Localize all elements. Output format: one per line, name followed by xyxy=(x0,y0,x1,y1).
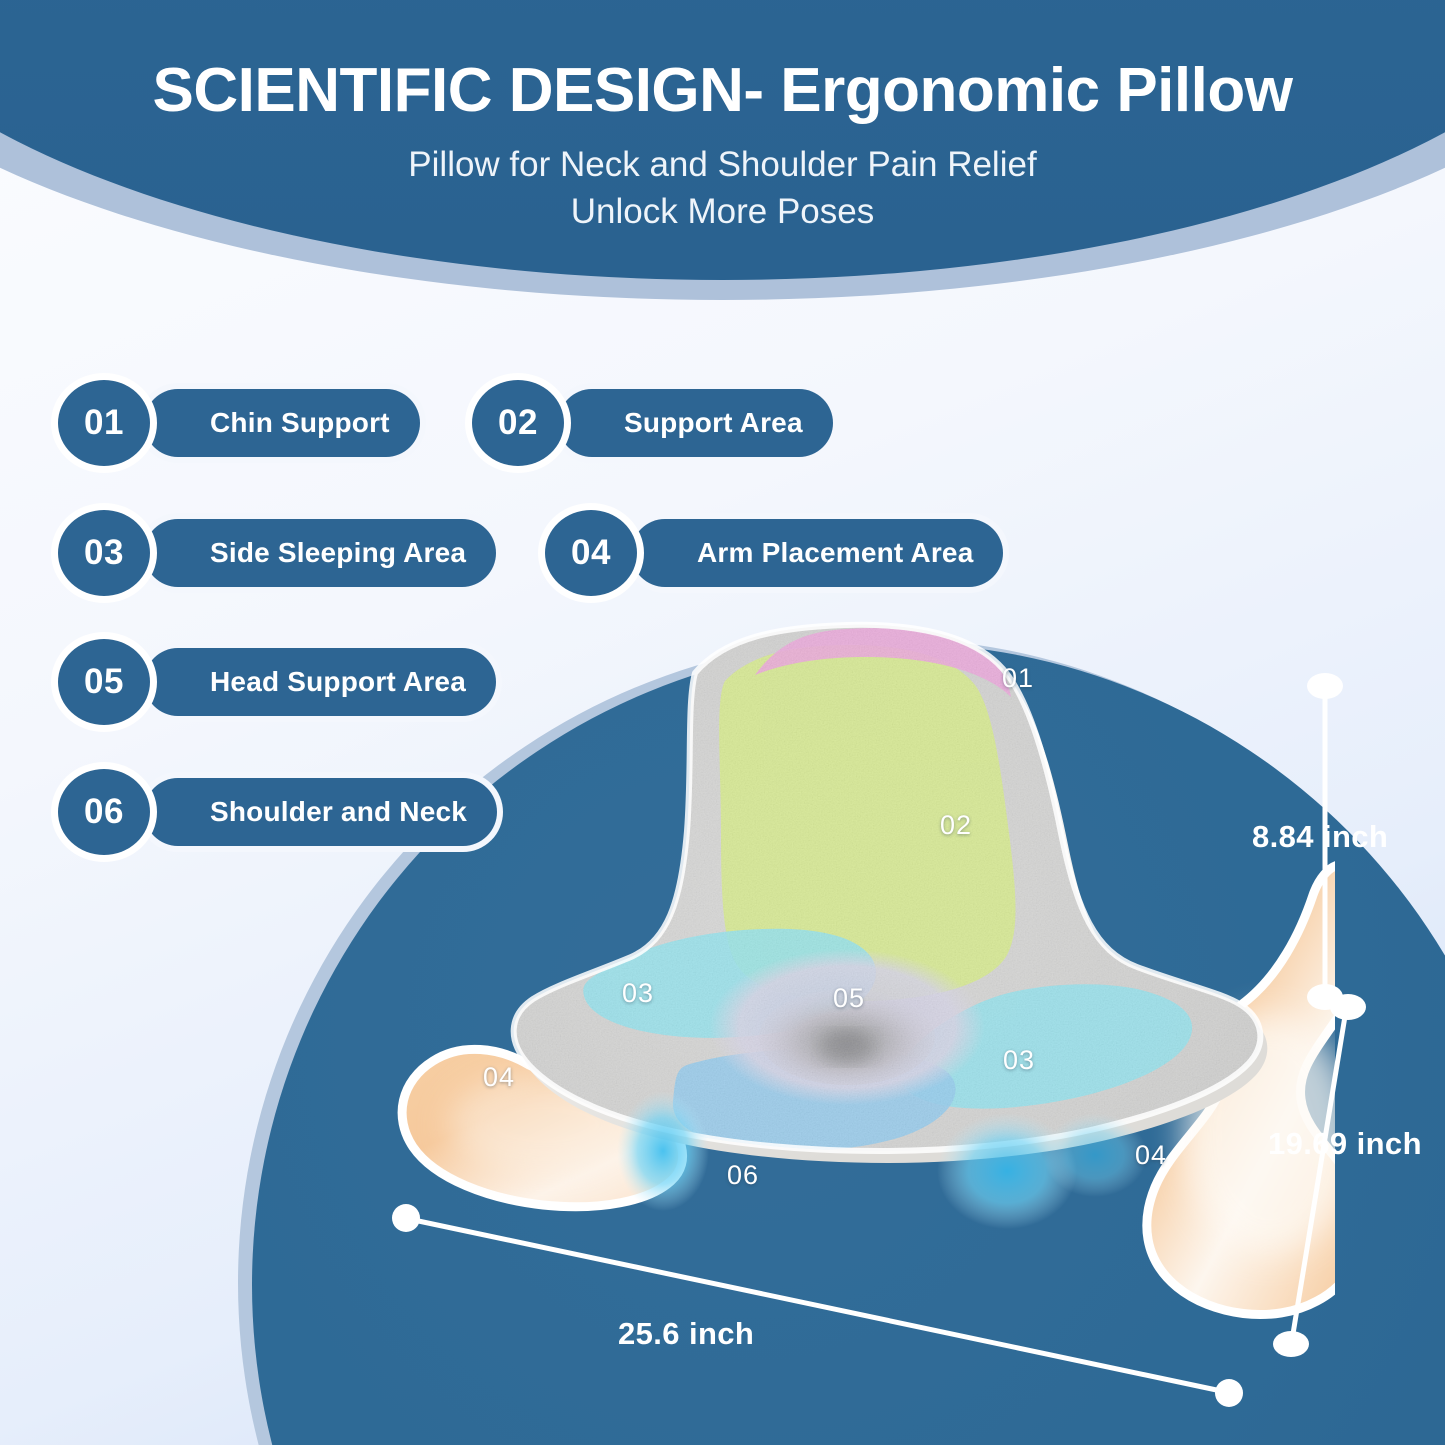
page-subtitle: Pillow for Neck and Shoulder Pain Relief… xyxy=(0,125,1445,235)
subtitle-line-1: Pillow for Neck and Shoulder Pain Relief xyxy=(408,145,1036,184)
subtitle-line-2: Unlock More Poses xyxy=(571,192,874,231)
legend-badge-06: 06 xyxy=(58,769,150,855)
dimension-label-depth: 19.69 inch xyxy=(1268,1126,1422,1162)
infographic-page: SCIENTIFIC DESIGN- Ergonomic Pillow Pill… xyxy=(0,0,1445,1445)
legend-badge-05: 05 xyxy=(58,639,150,725)
legend-label-05: Head Support Area xyxy=(144,648,496,716)
cyan-accent-left xyxy=(617,1091,709,1211)
page-title: SCIENTIFIC DESIGN- Ergonomic Pillow xyxy=(0,0,1445,125)
legend-badge-03: 03 xyxy=(58,510,150,596)
pillow-illustration xyxy=(395,595,1335,1355)
legend-label-02: Support Area xyxy=(558,389,833,457)
header-text-block: SCIENTIFIC DESIGN- Ergonomic Pillow Pill… xyxy=(0,0,1445,235)
legend-label-01: Chin Support xyxy=(144,389,420,457)
legend-badge-04: 04 xyxy=(545,510,637,596)
legend-label-03: Side Sleeping Area xyxy=(144,519,496,587)
legend-badge-01: 01 xyxy=(58,380,150,466)
dimension-label-width: 25.6 inch xyxy=(618,1316,754,1352)
legend-label-06: Shoulder and Neck xyxy=(144,778,497,846)
legend-badge-02: 02 xyxy=(472,380,564,466)
legend-label-04: Arm Placement Area xyxy=(631,519,1003,587)
dimension-label-height: 8.84 inch xyxy=(1252,819,1388,855)
